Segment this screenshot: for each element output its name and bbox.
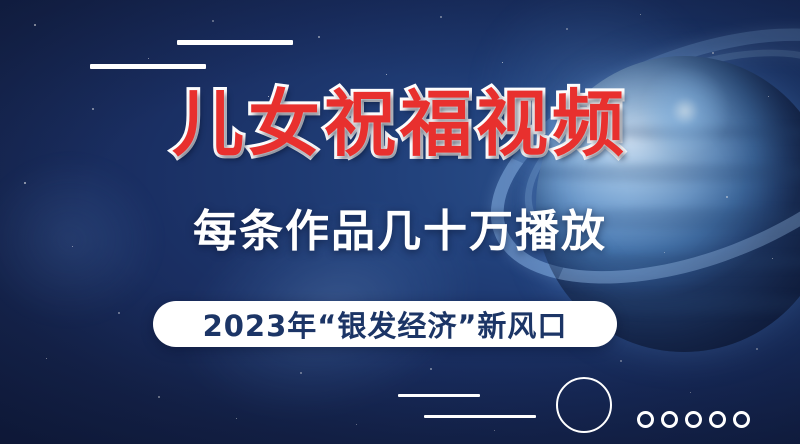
decor-big-ring [556, 377, 612, 433]
decor-line-top-lower [90, 64, 206, 69]
decor-line-bottom-upper [398, 394, 480, 397]
decor-small-ring-1 [637, 411, 654, 428]
poster-subheadline: 每条作品几十万播放 [0, 210, 800, 254]
decor-small-ring-4 [709, 411, 726, 428]
decor-line-bottom-lower [424, 415, 536, 418]
decor-small-ring-5 [733, 411, 750, 428]
decor-line-top-upper [177, 40, 293, 45]
decor-small-ring-2 [661, 411, 678, 428]
poster-canvas: 儿女祝福视频 每条作品几十万播放 2023年“银发经济”新风口 [0, 0, 800, 444]
decor-small-ring-3 [685, 411, 702, 428]
badge-pill: 2023年“银发经济”新风口 [153, 301, 617, 347]
badge-text: 2023年“银发经济”新风口 [203, 303, 568, 345]
poster-headline: 儿女祝福视频 [0, 88, 800, 160]
